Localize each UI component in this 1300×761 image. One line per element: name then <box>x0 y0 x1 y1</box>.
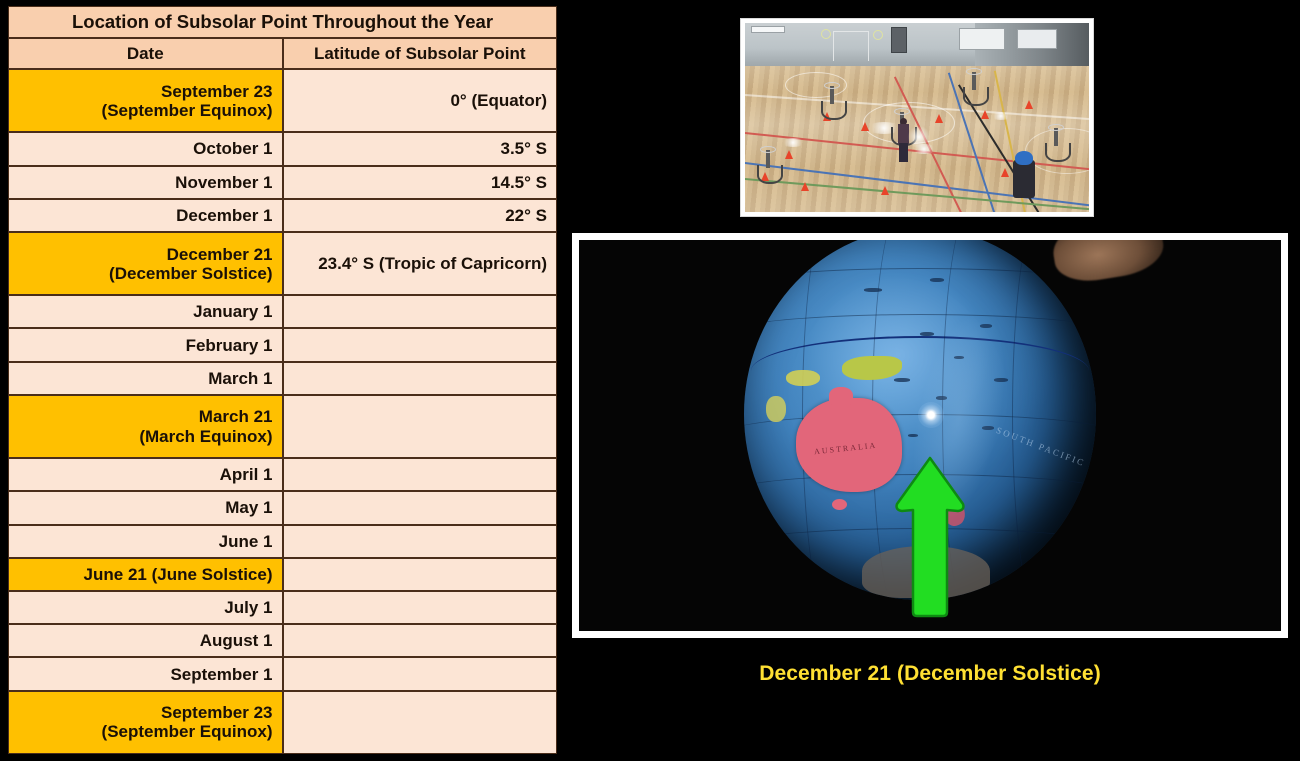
table-row: September 1 <box>8 657 557 690</box>
traffic-cone <box>785 150 793 159</box>
column-header-date: Date <box>8 38 283 69</box>
date-cell: May 1 <box>8 491 283 524</box>
subsolar-point-table-panel: Location of Subsolar Point Throughout th… <box>8 6 557 754</box>
globe-photo-content: AUSTRALIA SOUTH PACIFIC OCEAN <box>579 240 1281 631</box>
latitude-cell <box>283 295 558 328</box>
latitude-cell <box>283 558 558 591</box>
gym-photo-content <box>745 23 1089 212</box>
date-primary: March 21 <box>199 407 273 426</box>
camera-tripod <box>1045 128 1067 162</box>
date-secondary: (September Equinox) <box>18 722 273 741</box>
tripod-ring <box>894 108 910 115</box>
gym-whiteboard-right <box>959 28 1005 50</box>
tasmania-landmass <box>832 499 847 510</box>
table-row: April 1 <box>8 458 557 491</box>
date-cell: July 1 <box>8 591 283 624</box>
slide-canvas: Location of Subsolar Point Throughout th… <box>0 0 1300 761</box>
date-cell-highlighted: September 23(September Equinox) <box>8 691 283 754</box>
island-speck <box>864 288 882 292</box>
latitude-cell <box>283 691 558 754</box>
latitude-cell <box>283 624 558 657</box>
traffic-cone <box>1025 100 1033 109</box>
latitude-cell: 14.5° S <box>283 166 558 199</box>
table-row: March 1 <box>8 362 557 395</box>
date-primary: September 23 <box>161 82 273 101</box>
date-cell: November 1 <box>8 166 283 199</box>
tripod-ring <box>1048 124 1064 131</box>
date-cell: August 1 <box>8 624 283 657</box>
table-row: March 21(March Equinox) <box>8 395 557 458</box>
table-row: February 1 <box>8 328 557 361</box>
date-cell: April 1 <box>8 458 283 491</box>
gym-target-hoop-1 <box>821 29 831 39</box>
court-line-blue-1 <box>745 162 1089 207</box>
date-primary: January 1 <box>193 302 272 321</box>
gym-panel-dark <box>891 27 907 53</box>
globe-photo: AUSTRALIA SOUTH PACIFIC OCEAN <box>572 233 1288 638</box>
floor-reflection-4 <box>991 112 1011 120</box>
date-primary: September 1 <box>170 665 272 684</box>
camera-tripod <box>963 72 985 106</box>
date-cell-highlighted: June 21 (June Solstice) <box>8 558 283 591</box>
date-cell-highlighted: December 21(December Solstice) <box>8 232 283 295</box>
equipment-cart <box>1013 160 1035 198</box>
table-row: December 21(December Solstice)23.4° S (T… <box>8 232 557 295</box>
gym-scoreboard-left <box>751 26 785 33</box>
date-secondary: (September Equinox) <box>18 101 273 120</box>
date-cell-highlighted: March 21(March Equinox) <box>8 395 283 458</box>
date-cell: January 1 <box>8 295 283 328</box>
traffic-cone <box>881 186 889 195</box>
date-primary: October 1 <box>193 139 272 158</box>
camera-tripod <box>757 150 779 184</box>
date-cell: June 1 <box>8 525 283 558</box>
latitude-cell <box>283 657 558 690</box>
table-row: June 1 <box>8 525 557 558</box>
gym-floor <box>745 66 1089 212</box>
gymnasium-photo <box>740 18 1094 217</box>
date-primary: December 1 <box>176 206 272 225</box>
date-cell: October 1 <box>8 132 283 165</box>
floor-reflection-3 <box>781 138 805 147</box>
date-primary: November 1 <box>175 173 272 192</box>
table-row: September 23(September Equinox) <box>8 691 557 754</box>
date-primary: April 1 <box>220 465 273 484</box>
table-row: January 1 <box>8 295 557 328</box>
date-primary: September 23 <box>161 703 273 722</box>
date-cell: February 1 <box>8 328 283 361</box>
table-row: October 13.5° S <box>8 132 557 165</box>
latitude-cell <box>283 591 558 624</box>
table-row: August 1 <box>8 624 557 657</box>
camera-tripod <box>821 86 843 120</box>
gym-whiteboard-far-right <box>1017 29 1057 49</box>
latitude-cell <box>283 525 558 558</box>
date-primary: March 1 <box>208 369 272 388</box>
table-row: December 122° S <box>8 199 557 232</box>
column-header-latitude: Latitude of Subsolar Point <box>283 38 558 69</box>
latitude-cell <box>283 458 558 491</box>
latitude-cell <box>283 491 558 524</box>
date-primary: February 1 <box>186 336 273 355</box>
date-primary: June 21 (June Solstice) <box>84 565 273 584</box>
traffic-cone <box>981 110 989 119</box>
person-legs <box>899 143 908 162</box>
green-up-arrow-icon <box>891 452 969 622</box>
table-title: Location of Subsolar Point Throughout th… <box>8 6 557 38</box>
date-cell: March 1 <box>8 362 283 395</box>
traffic-cone <box>801 182 809 191</box>
table-title-row: Location of Subsolar Point Throughout th… <box>8 6 557 38</box>
subsolar-point-table: Location of Subsolar Point Throughout th… <box>8 6 557 754</box>
table-row: May 1 <box>8 491 557 524</box>
gym-target-hoop-2 <box>873 30 883 40</box>
tripod-ring <box>966 68 982 75</box>
tripod-ring <box>760 146 776 153</box>
date-primary: December 21 <box>167 245 273 264</box>
latitude-cell: 3.5° S <box>283 132 558 165</box>
gym-wall <box>745 23 1089 66</box>
date-secondary: (December Solstice) <box>18 264 273 283</box>
traffic-cone <box>935 114 943 123</box>
traffic-cone <box>1001 168 1009 177</box>
date-primary: May 1 <box>225 498 272 517</box>
date-primary: July 1 <box>224 598 272 617</box>
table-row: June 21 (June Solstice) <box>8 558 557 591</box>
borneo-landmass <box>766 396 786 422</box>
traffic-cone <box>861 122 869 131</box>
table-row: September 23(September Equinox)0° (Equat… <box>8 69 557 132</box>
table-row: July 1 <box>8 591 557 624</box>
globe-caption: December 21 (December Solstice) <box>572 662 1288 686</box>
indonesia-landmass <box>786 370 820 386</box>
table-row: November 114.5° S <box>8 166 557 199</box>
date-secondary: (March Equinox) <box>18 427 273 446</box>
date-cell: September 1 <box>8 657 283 690</box>
table-header-row: DateLatitude of Subsolar Point <box>8 38 557 69</box>
latitude-cell <box>283 328 558 361</box>
date-primary: August 1 <box>200 631 273 650</box>
subsolar-point-light-spot <box>918 402 944 428</box>
date-primary: June 1 <box>219 532 273 551</box>
latitude-cell: 23.4° S (Tropic of Capricorn) <box>283 232 558 295</box>
date-cell: December 1 <box>8 199 283 232</box>
tripod-ring <box>824 82 840 89</box>
latitude-cell <box>283 362 558 395</box>
latitude-cell <box>283 395 558 458</box>
gym-goal-frame <box>833 31 869 61</box>
latitude-cell: 22° S <box>283 199 558 232</box>
latitude-cell: 0° (Equator) <box>283 69 558 132</box>
date-cell-highlighted: September 23(September Equinox) <box>8 69 283 132</box>
blue-ball <box>1015 151 1033 165</box>
